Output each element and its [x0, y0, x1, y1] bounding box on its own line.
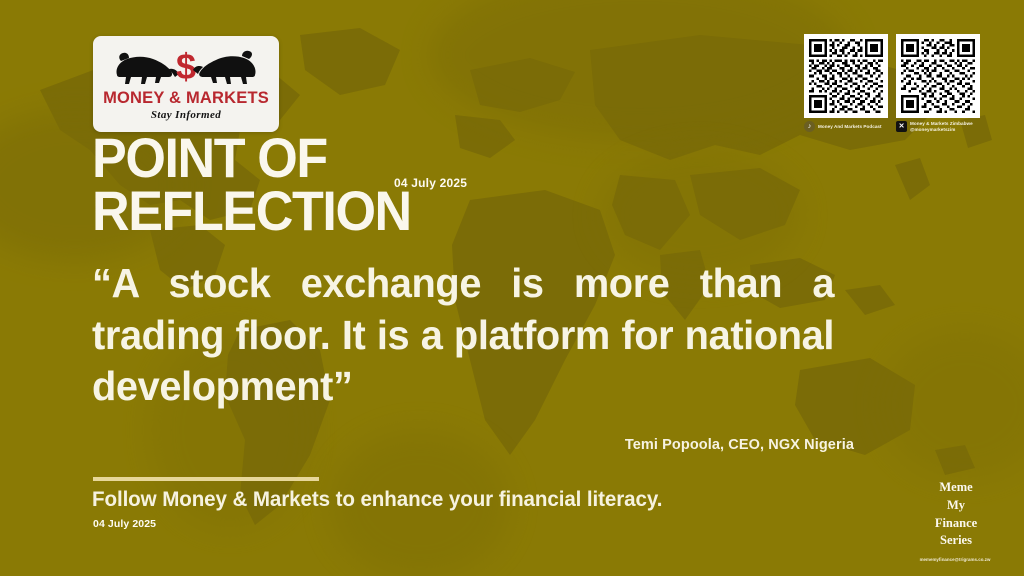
qr-code-podcast[interactable]: [804, 34, 888, 118]
quote-attribution: Temi Popoola, CEO, NGX Nigeria: [0, 437, 854, 453]
qr-caption-text: Money And Markets Podcast: [818, 124, 882, 129]
qr-caption-line2: @moneymarketszim: [910, 127, 973, 132]
quote-text: “A stock exchange is more than a trading…: [92, 258, 834, 465]
brand-logo-card: $ MONEY & MARKETS Stay Informed: [93, 36, 279, 132]
map-blotch: [880, 330, 1024, 480]
logo-tagline: Stay Informed: [151, 109, 221, 121]
series-mark: Meme My Finance Series: [910, 479, 1002, 550]
qr-caption-text: Money & Markets Zimbabwe @moneymarketszi…: [910, 121, 973, 131]
qr-item-podcast[interactable]: ♪ Money And Markets Podcast: [804, 34, 888, 132]
footer-divider: [93, 477, 319, 481]
qr-item-x-profile[interactable]: ✕ Money & Markets Zimbabwe @moneymarkets…: [896, 34, 980, 132]
podcast-icon: ♪: [804, 121, 815, 132]
logo-wordmark: MONEY & MARKETS: [103, 90, 269, 107]
series-email: mememyfinance@trigrams.co.zw: [896, 557, 1014, 562]
qr-code-group: ♪ Money And Markets Podcast: [804, 34, 980, 132]
series-line-1: Meme: [910, 479, 1002, 497]
footer-date: 04 July 2025: [93, 518, 156, 530]
slide-canvas: $ MONEY & MARKETS Stay Informed: [0, 0, 1024, 576]
headline-date: 04 July 2025: [394, 176, 467, 190]
series-line-3: Finance: [910, 515, 1002, 533]
qr-caption-x-profile: ✕ Money & Markets Zimbabwe @moneymarkets…: [896, 121, 980, 132]
bear-bull-dollar-icon: $: [111, 47, 261, 89]
title-line-2: REFLECTION: [92, 184, 483, 237]
qr-code-x-profile[interactable]: [896, 34, 980, 118]
qr-caption-podcast: ♪ Money And Markets Podcast: [804, 121, 888, 132]
qr-caption-line1: Money & Markets Zimbabwe: [910, 121, 973, 126]
series-line-4: Series: [910, 532, 1002, 550]
x-twitter-icon: ✕: [896, 121, 907, 132]
svg-text:$: $: [176, 47, 196, 87]
map-blotch: [430, 0, 850, 140]
series-line-2: My: [910, 497, 1002, 515]
footer-cta: Follow Money & Markets to enhance your f…: [92, 488, 662, 512]
